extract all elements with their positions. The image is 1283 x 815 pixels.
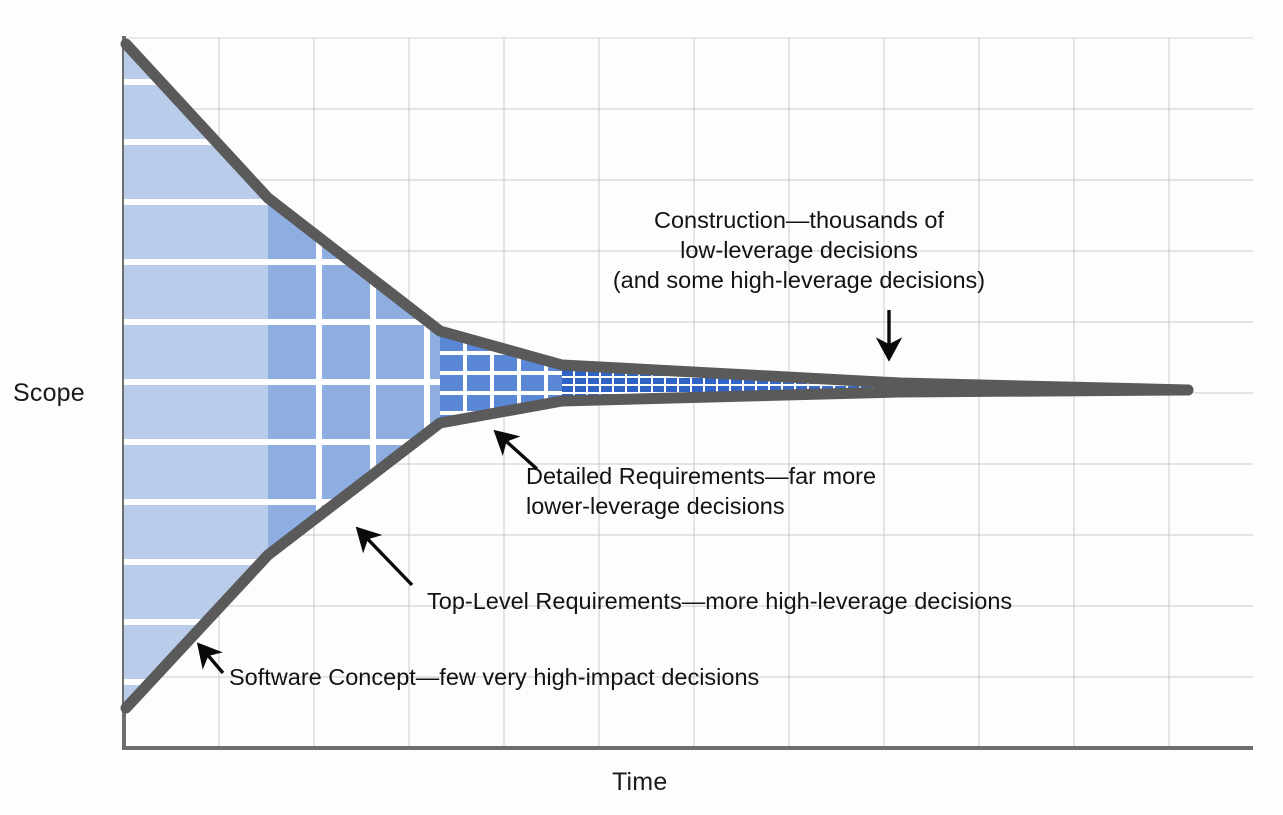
page-background: Scope Time Construction—thousands of low… (0, 0, 1283, 815)
annotation-top-level-requirements-line1: Top-Level Requirements—more high-leverag… (427, 586, 1012, 616)
top-level-requirements-arrow (359, 530, 412, 585)
annotation-construction-line1: Construction—thousands of (604, 205, 994, 235)
annotation-construction: Construction—thousands of low-leverage d… (604, 205, 994, 295)
phase-software-concept-fill (118, 25, 270, 765)
phase-top-level-requirements-fill (268, 25, 442, 765)
figure-canvas: Scope Time Construction—thousands of low… (0, 0, 1283, 815)
y-axis-label: Scope (13, 379, 85, 408)
annotation-detailed-requirements-line2: lower-leverage decisions (526, 491, 876, 521)
annotation-software-concept: Software Concept—few very high-impact de… (229, 662, 759, 692)
diagram-svg (0, 0, 1283, 815)
annotation-software-concept-line1: Software Concept—few very high-impact de… (229, 662, 759, 692)
phase-detailed-requirements-fill (440, 300, 564, 480)
annotation-detailed-requirements-line1: Detailed Requirements—far more (526, 461, 876, 491)
annotation-construction-line3: (and some high-leverage decisions) (604, 265, 994, 295)
annotation-construction-line2: low-leverage decisions (604, 235, 994, 265)
annotation-top-level-requirements: Top-Level Requirements—more high-leverag… (427, 586, 1012, 616)
annotation-detailed-requirements: Detailed Requirements—far more lower-lev… (526, 461, 876, 521)
x-axis-label: Time (612, 768, 667, 797)
